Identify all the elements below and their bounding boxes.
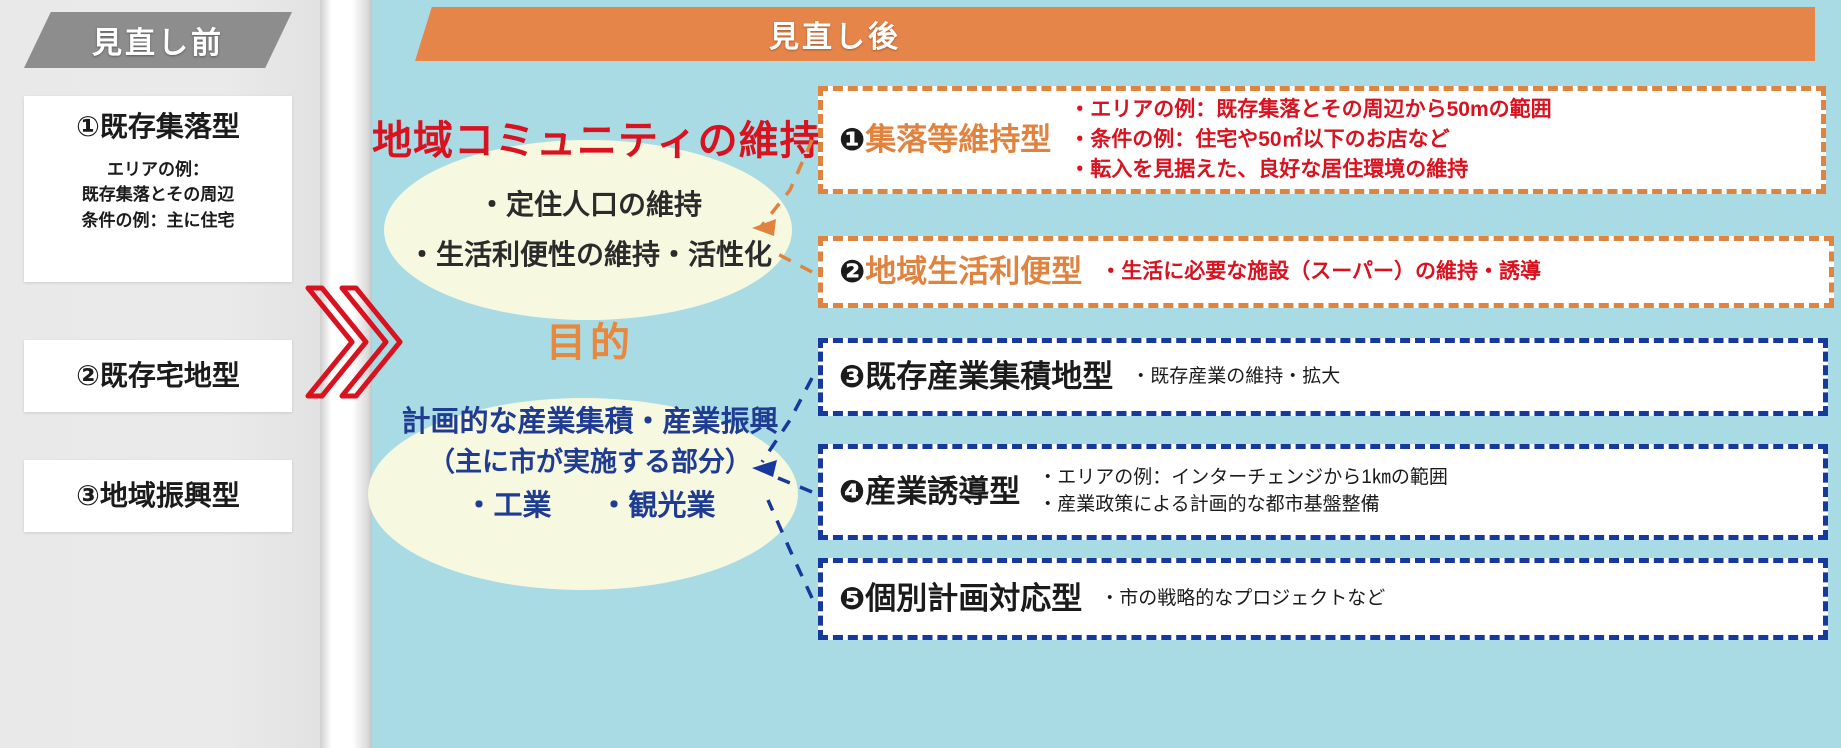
after-type-box-2[interactable]: ❷地域生活利便型 ・生活に必要な施設（スーパー）の維持・誘導 <box>818 236 1834 308</box>
industry-item-1: ・工業 <box>464 490 551 522</box>
after-type-4-number: ❹ <box>839 474 865 509</box>
after-type-4-body: ・エリアの例：インターチェンジから1㎞の範囲 ・産業政策による計画的な都市基盤整… <box>1020 465 1823 519</box>
after-type-1-number: ❶ <box>839 122 865 157</box>
after-type-4-line: ・産業政策による計画的な都市基盤整備 <box>1038 492 1823 519</box>
industry-heading: 計画的な産業集積・産業振興 <box>372 398 808 440</box>
industry-item-2: ・観光業 <box>600 490 716 522</box>
after-revision-banner: 見直し後 <box>415 7 1815 61</box>
after-type-1-line: ・転入を見据えた、良好な居住環境の維持 <box>1069 155 1821 185</box>
after-type-1-name: 集落等維持型 <box>865 122 1051 157</box>
diagram-canvas: 見直し前 ①既存集落型 エリアの例： 既存集落とその周辺 条件の例：主に住宅 ②… <box>0 0 1841 748</box>
before-type-card-3[interactable]: ③地域振興型 <box>24 460 292 532</box>
after-type-4-title: ❹産業誘導型 <box>823 476 1020 509</box>
before-type-3-title: ③地域振興型 <box>76 481 240 512</box>
purpose-label: 目的 <box>372 310 808 368</box>
double-chevron-right-icon <box>300 272 410 412</box>
before-revision-panel: 見直し前 ①既存集落型 エリアの例： 既存集落とその周辺 条件の例：主に住宅 ②… <box>0 0 320 748</box>
after-type-2-body: ・生活に必要な施設（スーパー）の維持・誘導 <box>1082 257 1829 287</box>
after-type-4-line: ・エリアの例：インターチェンジから1㎞の範囲 <box>1038 465 1823 492</box>
before-type-1-details: エリアの例： 既存集落とその周辺 条件の例：主に住宅 <box>82 157 235 234</box>
after-type-2-title: ❷地域生活利便型 <box>823 256 1082 289</box>
after-type-3-name: 既存産業集積地型 <box>865 359 1113 394</box>
before-revision-banner: 見直し前 <box>24 12 292 68</box>
after-type-box-5[interactable]: ❺個別計画対応型 ・市の戦略的なプロジェクトなど <box>818 558 1828 640</box>
after-type-2-name: 地域生活利便型 <box>865 254 1082 289</box>
after-type-5-line: ・市の戦略的なプロジェクトなど <box>1100 586 1823 613</box>
after-type-2-number: ❷ <box>839 254 865 289</box>
after-type-box-3[interactable]: ❸既存産業集積地型 ・既存産業の維持・拡大 <box>818 338 1828 416</box>
before-revision-banner-label: 見直し前 <box>92 18 224 62</box>
after-type-3-body: ・既存産業の維持・拡大 <box>1113 364 1823 391</box>
after-type-5-body: ・市の戦略的なプロジェクトなど <box>1082 586 1823 613</box>
after-type-5-name: 個別計画対応型 <box>865 581 1082 616</box>
after-type-5-title: ❺個別計画対応型 <box>823 583 1082 616</box>
community-bullet-2: ・生活利便性の維持・活性化 <box>372 233 808 273</box>
before-type-1-detail-line: 既存集落とその周辺 <box>82 182 235 208</box>
after-type-4-name: 産業誘導型 <box>865 474 1020 509</box>
before-type-card-2[interactable]: ②既存宅地型 <box>24 340 292 412</box>
after-type-1-line: ・エリアの例：既存集落とその周辺から50mの範囲 <box>1069 95 1821 125</box>
community-ellipse-shape <box>384 140 792 320</box>
after-revision-banner-label: 見直し後 <box>769 12 901 56</box>
after-type-1-body: ・エリアの例：既存集落とその周辺から50mの範囲 ・条件の例：住宅や50㎡以下の… <box>1051 95 1821 184</box>
before-type-1-detail-line: 条件の例：主に住宅 <box>82 208 235 234</box>
community-bullet-1: ・定住人口の維持 <box>372 183 808 223</box>
after-type-3-line: ・既存産業の維持・拡大 <box>1131 364 1823 391</box>
after-type-box-1[interactable]: ❶集落等維持型 ・エリアの例：既存集落とその周辺から50mの範囲 ・条件の例：住… <box>818 86 1826 194</box>
before-type-1-detail-line: エリアの例： <box>82 157 235 183</box>
purpose-panel: 地域コミュニティの維持 ・定住人口の維持 ・生活利便性の維持・活性化 目的 計画… <box>372 0 808 748</box>
after-type-3-title: ❸既存産業集積地型 <box>823 361 1113 394</box>
before-type-1-title: ①既存集落型 <box>76 112 240 143</box>
after-type-2-line: ・生活に必要な施設（スーパー）の維持・誘導 <box>1100 257 1829 287</box>
after-type-1-line: ・条件の例：住宅や50㎡以下のお店など <box>1069 125 1821 155</box>
before-type-2-title: ②既存宅地型 <box>76 361 240 392</box>
industry-subheading: （主に市が実施する部分） <box>372 440 808 479</box>
after-type-5-number: ❺ <box>839 581 865 616</box>
community-heading: 地域コミュニティの維持 <box>372 108 808 166</box>
industry-items: ・工業・観光業 <box>372 482 808 524</box>
after-type-3-number: ❸ <box>839 359 865 394</box>
before-type-card-1[interactable]: ①既存集落型 エリアの例： 既存集落とその周辺 条件の例：主に住宅 <box>24 96 292 282</box>
after-type-box-4[interactable]: ❹産業誘導型 ・エリアの例：インターチェンジから1㎞の範囲 ・産業政策による計画… <box>818 444 1828 540</box>
after-type-1-title: ❶集落等維持型 <box>823 124 1051 157</box>
